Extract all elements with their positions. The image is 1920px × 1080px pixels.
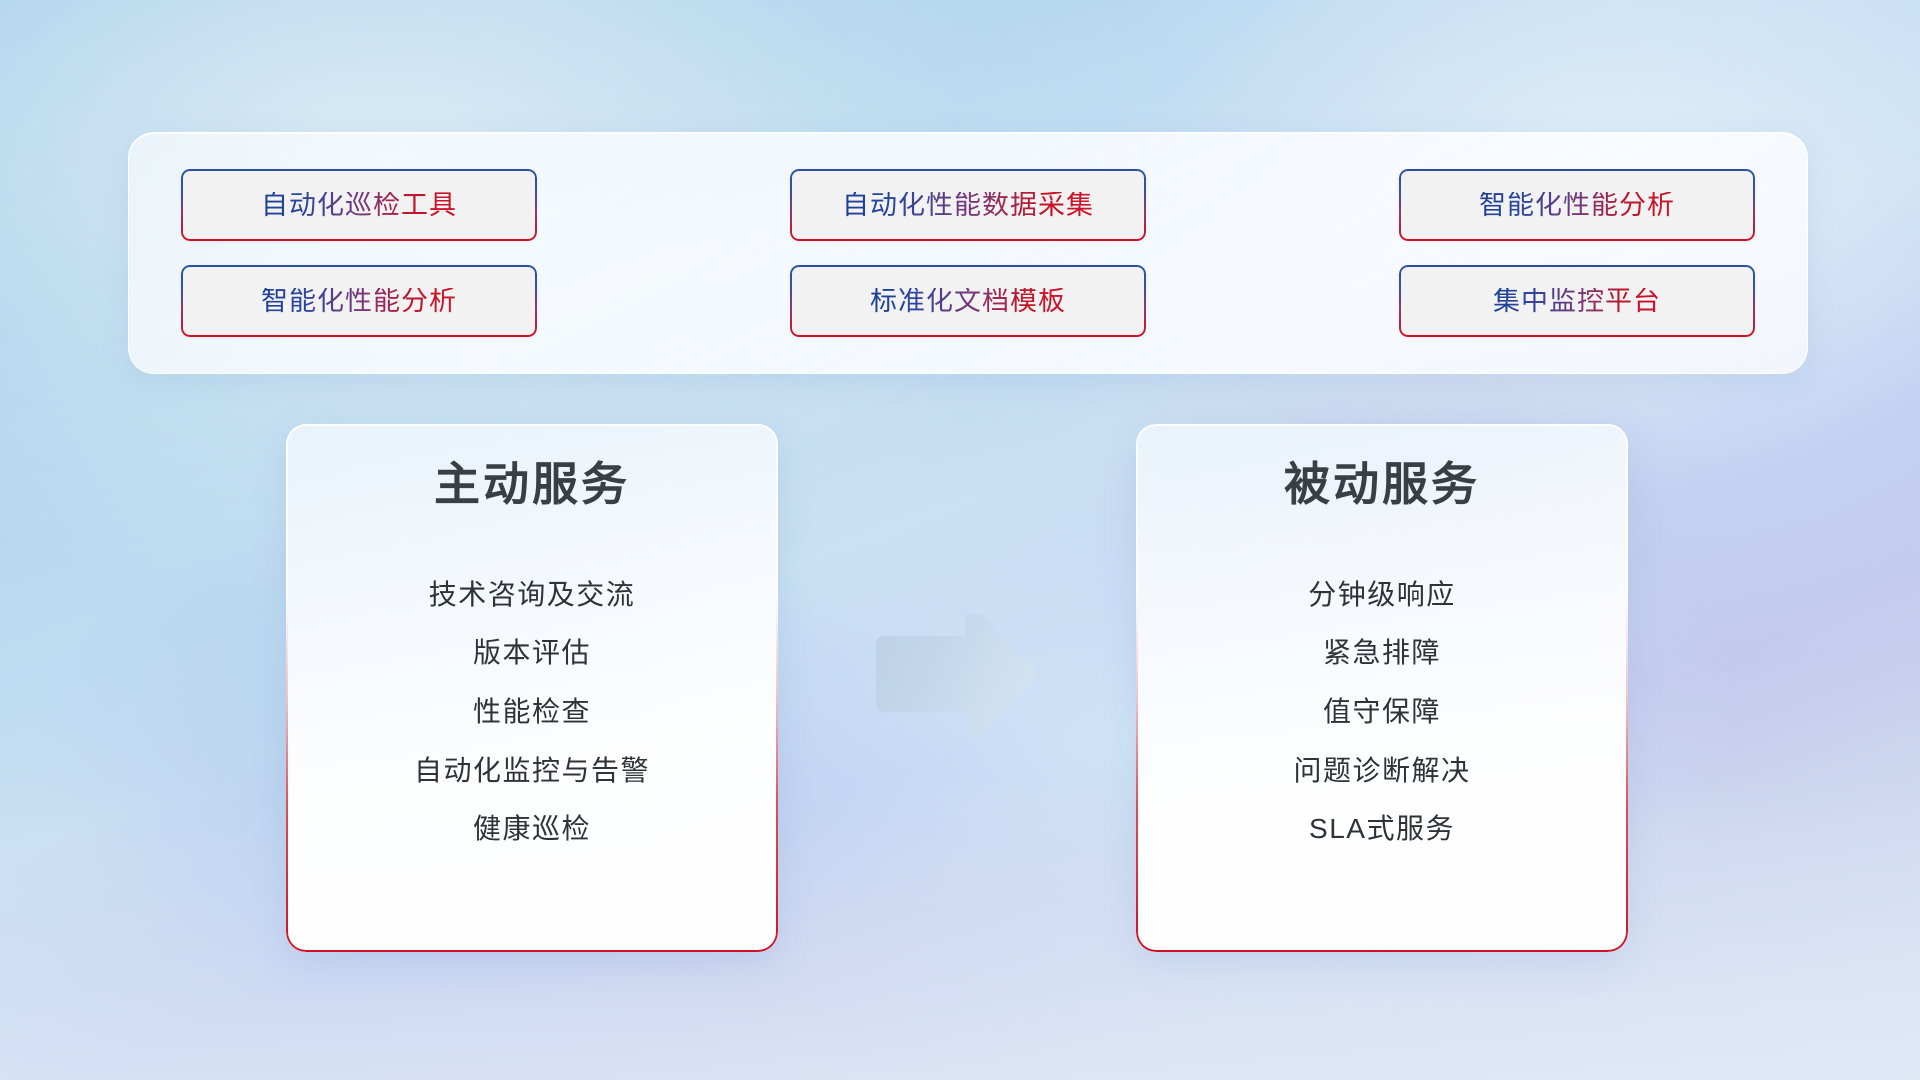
title-accent-rule: [1168, 533, 1596, 544]
list-item: 值守保障: [1323, 695, 1441, 729]
passive-service-title: 被动服务: [1136, 458, 1628, 511]
list-item: 性能检查: [473, 695, 591, 729]
capability-tag-automated-performance-collection[interactable]: 自动化性能数据采集: [790, 169, 1146, 241]
list-item: 问题诊断解决: [1293, 754, 1470, 788]
active-service-title: 主动服务: [286, 458, 778, 511]
list-item: 紧急排障: [1323, 636, 1441, 670]
capability-tag-intelligent-performance-analysis-2[interactable]: 智能化性能分析: [181, 265, 537, 337]
active-service-card: 主动服务 技术咨询及交流 版本评估 性能检查 自动化监控与告警 健康巡检: [286, 424, 778, 952]
capability-tag-central-monitoring-platform[interactable]: 集中监控平台: [1399, 265, 1755, 337]
arrow-right-icon: [872, 614, 1040, 736]
capability-tag-automated-inspection-tool[interactable]: 自动化巡检工具: [181, 169, 537, 241]
capability-tag-intelligent-performance-analysis-1[interactable]: 智能化性能分析: [1399, 169, 1755, 241]
list-item: 健康巡检: [473, 812, 591, 846]
passive-service-list: 分钟级响应 紧急排障 值守保障 问题诊断解决 SLA式服务: [1136, 578, 1628, 846]
active-service-list: 技术咨询及交流 版本评估 性能检查 自动化监控与告警 健康巡检: [286, 578, 778, 846]
list-item: 自动化监控与告警: [414, 754, 650, 788]
capability-tag-label: 自动化性能数据采集: [842, 192, 1094, 219]
capability-tag-label: 标准化文档模板: [870, 288, 1066, 315]
capability-tag-label: 智能化性能分析: [1479, 192, 1675, 219]
list-item: 版本评估: [473, 636, 591, 670]
capability-row-2: 智能化性能分析 标准化文档模板 集中监控平台: [181, 265, 1755, 337]
title-accent-rule: [318, 533, 746, 544]
capability-tag-label: 集中监控平台: [1493, 288, 1661, 315]
list-item: 分钟级响应: [1308, 578, 1456, 612]
capability-panel: 自动化巡检工具 自动化性能数据采集 智能化性能分析 智能化性能分析 标准化文档模…: [128, 132, 1808, 374]
capability-tag-label: 智能化性能分析: [261, 288, 457, 315]
capability-row-1: 自动化巡检工具 自动化性能数据采集 智能化性能分析: [181, 169, 1755, 241]
capability-tag-standard-document-template[interactable]: 标准化文档模板: [790, 265, 1146, 337]
passive-service-card: 被动服务 分钟级响应 紧急排障 值守保障 问题诊断解决 SLA式服务: [1136, 424, 1628, 952]
list-item: 技术咨询及交流: [429, 578, 636, 612]
capability-tag-label: 自动化巡检工具: [261, 192, 457, 219]
list-item: SLA式服务: [1309, 812, 1455, 846]
